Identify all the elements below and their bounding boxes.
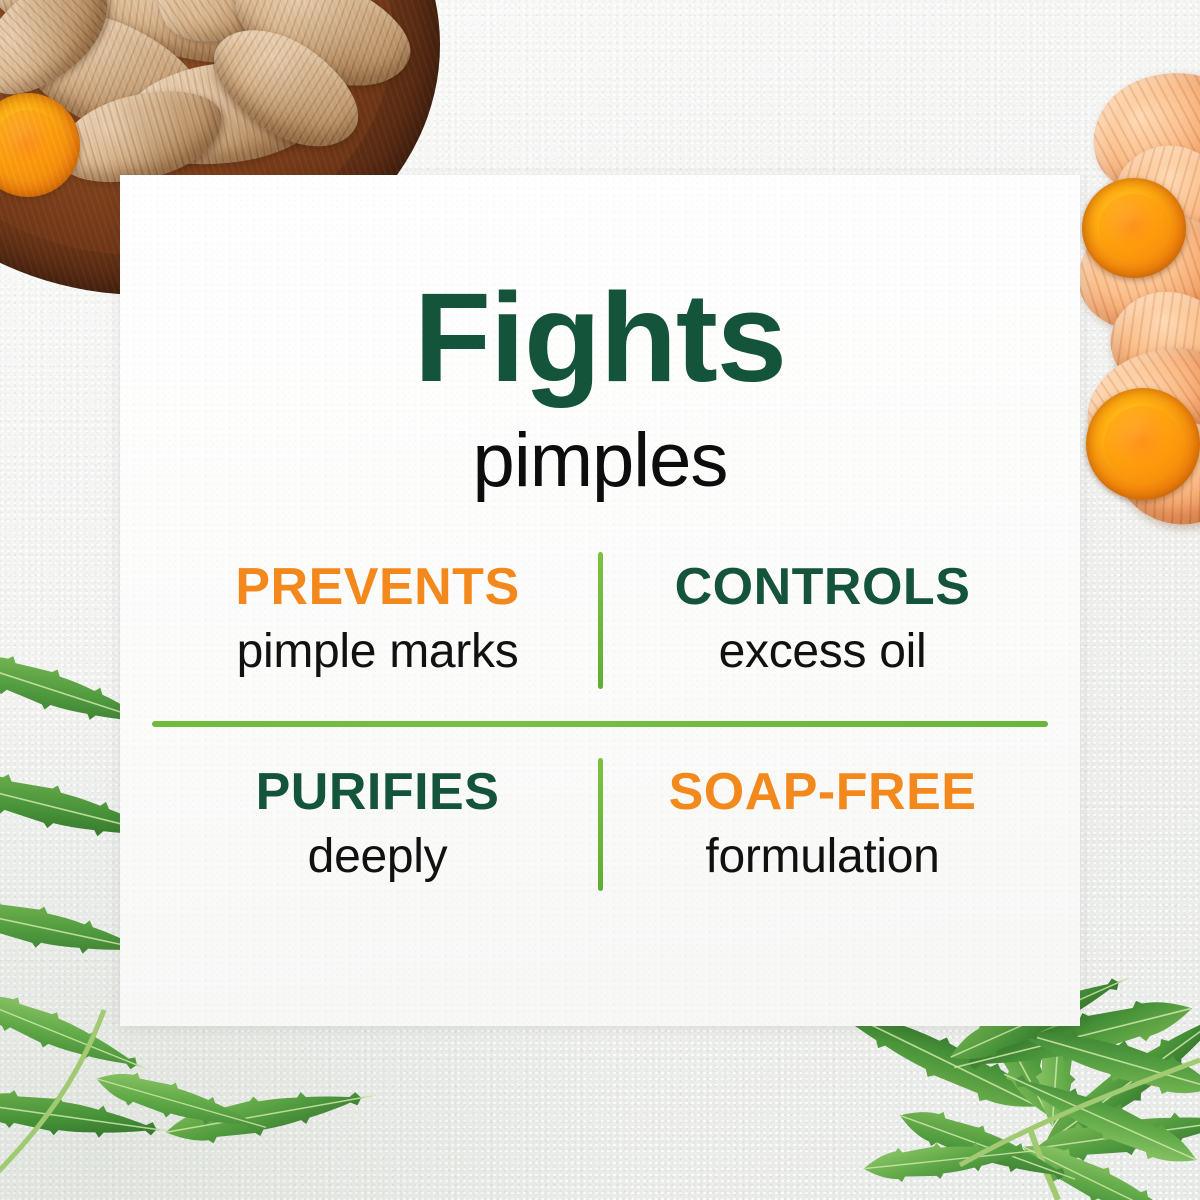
page-subtitle: pimples (120, 423, 1080, 499)
content-card: Fights pimples PREVENTS pimple marks CON… (120, 175, 1080, 1026)
benefits-grid: PREVENTS pimple marks CONTROLS excess oi… (155, 560, 1045, 950)
benefit-title: PURIFIES (155, 765, 600, 820)
benefit-title: CONTROLS (600, 560, 1045, 615)
vertical-divider-top (598, 552, 603, 689)
benefit-purifies: PURIFIES deeply (155, 765, 600, 950)
horizontal-divider (152, 721, 1048, 727)
turmeric-cut-slice (1082, 178, 1186, 278)
benefit-title: SOAP-FREE (600, 765, 1045, 820)
poster-canvas: Fights pimples PREVENTS pimple marks CON… (0, 0, 1200, 1200)
page-title: Fights (120, 275, 1080, 401)
benefit-subtitle: excess oil (600, 627, 1045, 678)
benefit-prevents: PREVENTS pimple marks (155, 560, 600, 745)
benefit-subtitle: pimple marks (155, 627, 600, 678)
benefit-soap-free: SOAP-FREE formulation (600, 765, 1045, 950)
benefit-controls: CONTROLS excess oil (600, 560, 1045, 745)
vertical-divider-bottom (598, 758, 603, 891)
benefit-subtitle: formulation (600, 832, 1045, 883)
turmeric-cut-slice (0, 93, 80, 197)
benefit-subtitle: deeply (155, 832, 600, 883)
benefit-title: PREVENTS (155, 560, 600, 615)
turmeric-cut-slice (1086, 388, 1200, 500)
